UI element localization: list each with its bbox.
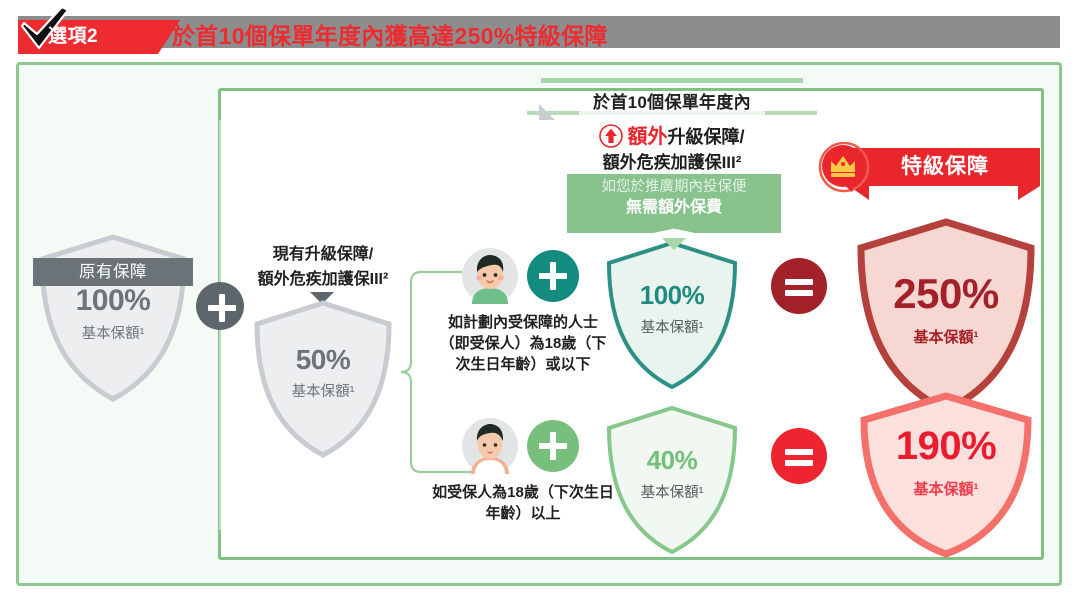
adult-avatar-icon — [462, 418, 518, 474]
promo-line-2: 額外危疾加護保III² — [527, 148, 817, 173]
shield-existing-upgrade: 50% 基本保額¹ — [253, 300, 393, 458]
shield-banner-original: 原有保障 — [33, 258, 193, 286]
up-arrow-badge-icon — [599, 124, 623, 148]
existing-upgrade-label-line-1: 現有升級保障/ — [215, 242, 431, 267]
down-caret-icon — [662, 238, 686, 250]
equals-icon — [771, 258, 827, 314]
equals-icon — [771, 428, 827, 484]
shield-total-250: 250% 基本保額¹ — [855, 218, 1037, 414]
shield-extra-green: 40% 基本保額¹ — [605, 405, 739, 555]
promo-heading: 於首10個保單年度內 — [527, 88, 817, 113]
shield-shape — [858, 392, 1034, 558]
option-label: 選項2 — [48, 21, 158, 52]
shield-shape — [253, 300, 393, 458]
promo-heading-wrap: 於首10個保單年度內 — [527, 88, 817, 116]
top-accent-line — [541, 78, 803, 83]
shield-original-coverage: 原有保障 100% 基本保額¹ — [38, 234, 188, 402]
plus-icon — [527, 250, 579, 302]
plus-icon — [196, 282, 244, 330]
child-branch-caption: 如計劃內受保障的人士（即受保人）為18歲（下次生日年齡）或以下 — [438, 312, 608, 375]
promo-line-1: 額外升級保障/ — [527, 120, 817, 149]
promo-line-1-highlight: 額外 — [627, 126, 667, 148]
shield-extra-teal: 100% 基本保額¹ — [605, 240, 739, 390]
plus-icon — [527, 420, 579, 472]
supreme-ribbon: 特級保障 — [818, 142, 1043, 198]
adult-branch-caption: 如受保人為18歲（下次生日年齡）以上 — [430, 482, 616, 524]
shield-shape — [605, 405, 739, 555]
crown-badge-icon — [818, 142, 874, 198]
page-title: 於首10個保單年度內獲高達250%特級保障 — [172, 18, 608, 54]
shield-shape — [855, 218, 1037, 414]
promo-note-line-2: 無需額外保費 — [567, 197, 781, 218]
shield-shape — [605, 240, 739, 390]
promo-note-box: 如您於推廣期內投保便 無需額外保費 — [567, 174, 781, 222]
promo-note-line-1: 如您於推廣期內投保便 — [567, 177, 781, 197]
ribbon-label: 特級保障 — [850, 148, 1040, 186]
promo-line-1-rest: 升級保障/ — [667, 127, 744, 147]
child-avatar-icon — [462, 248, 518, 304]
shield-total-190: 190% 基本保額¹ — [858, 392, 1034, 558]
page-header: 選項2 於首10個保單年度內獲高達250%特級保障 — [0, 0, 1080, 58]
